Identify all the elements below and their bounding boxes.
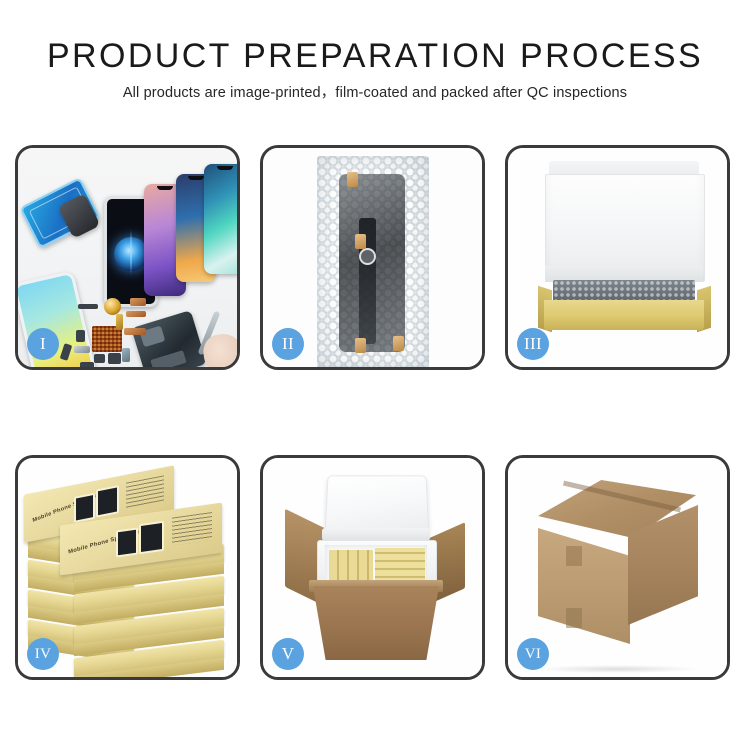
small-part xyxy=(108,353,121,364)
small-part xyxy=(116,314,123,330)
step-card-4: Mobile Phone Spare Parts Mobile Phone Sp… xyxy=(15,455,240,680)
tape-piece xyxy=(347,172,358,187)
phone-notch xyxy=(188,176,204,180)
small-part xyxy=(76,330,85,342)
packed-retail-boxes-right xyxy=(375,548,425,584)
step-badge-4: IV xyxy=(27,638,59,670)
carton-body xyxy=(313,586,439,660)
small-part xyxy=(124,328,146,335)
step-card-5: V xyxy=(260,455,485,680)
bubble-wrap-bag xyxy=(317,156,429,367)
tape-piece xyxy=(355,338,366,353)
header: PRODUCT PREPARATION PROCESS All products… xyxy=(0,36,750,103)
carton-tape-upper xyxy=(566,546,582,566)
small-part xyxy=(78,304,98,309)
box-spec-lines xyxy=(126,475,164,508)
small-part xyxy=(130,298,146,306)
step-badge-6: VI xyxy=(517,638,549,670)
box-window-phone xyxy=(96,485,119,517)
teal-swirl-phone xyxy=(204,164,237,274)
step-card-3: III xyxy=(505,145,730,370)
small-part xyxy=(94,354,105,363)
infographic-page: PRODUCT PREPARATION PROCESS All products… xyxy=(0,0,750,750)
packed-retail-boxes-left xyxy=(329,550,373,584)
step-badge-5: V xyxy=(272,638,304,670)
box-spec-lines xyxy=(172,512,212,546)
step-badge-2: II xyxy=(272,328,304,360)
carton-tape-lower xyxy=(566,608,582,628)
small-part xyxy=(80,362,94,367)
vibration-motor-part xyxy=(104,298,121,315)
box-window-phone xyxy=(116,527,138,557)
cable-connector xyxy=(359,248,376,265)
kraft-box-front xyxy=(544,300,704,330)
phone-notch xyxy=(157,186,173,190)
tape-piece xyxy=(355,234,366,249)
small-part xyxy=(126,311,146,317)
page-subtitle: All products are image-printed，film-coat… xyxy=(0,83,750,103)
step-card-1: I xyxy=(15,145,240,370)
step-card-2: II xyxy=(260,145,485,370)
step-badge-1: I xyxy=(27,328,59,360)
box-window-phone xyxy=(139,521,164,555)
small-part xyxy=(122,348,130,362)
page-title: PRODUCT PREPARATION PROCESS xyxy=(0,36,750,76)
process-step-grid: I II xyxy=(15,145,735,681)
box-window-phone xyxy=(74,493,95,523)
phone-notch xyxy=(217,166,233,170)
tape-piece xyxy=(393,336,404,351)
small-part xyxy=(74,346,90,353)
step-badge-3: III xyxy=(517,328,549,360)
carton-shadow xyxy=(539,665,697,673)
step-card-6: VI xyxy=(505,455,730,680)
screen-ray-graphic xyxy=(130,230,132,274)
